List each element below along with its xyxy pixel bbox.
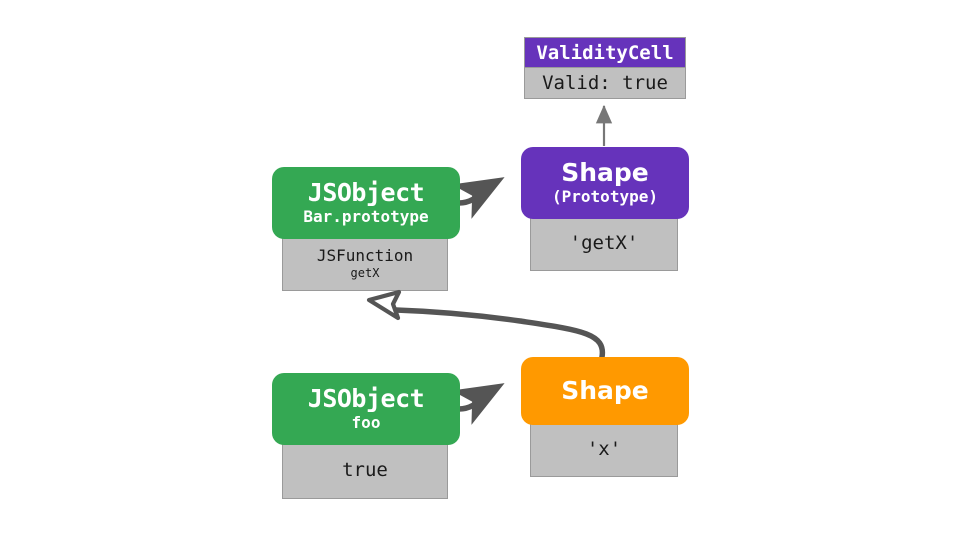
shape-prototype-subtitle: (Prototype) (552, 189, 658, 206)
validity-cell-body: Valid: true (525, 68, 685, 98)
jsobject-bar-prototype-subtitle: Bar.prototype (303, 209, 428, 226)
edge-bar-prototype-to-shape-prototype (459, 182, 496, 203)
shape-foo-head: Shape (521, 357, 689, 425)
shape-foo-body: 'x' (530, 421, 678, 477)
jsobject-bar-prototype-body-line2: getX (351, 266, 380, 280)
edge-shape-foo-to-jsfunction-prototype-link (369, 292, 602, 357)
jsobject-bar-prototype-title: JSObject (308, 180, 424, 206)
jsobject-bar-prototype-body-line1: JSFunction (317, 246, 413, 265)
jsobject-bar-prototype-head: JSObject Bar.prototype (272, 167, 460, 239)
diagram-canvas: ValidityCell Valid: true 'getX' Shape (P… (0, 0, 960, 540)
edge-layer (0, 0, 960, 540)
shape-foo-title: Shape (561, 378, 649, 404)
validity-cell-body-label: Valid: true (542, 72, 668, 94)
validity-cell-header: ValidityCell (525, 38, 685, 68)
jsobject-foo-subtitle: foo (352, 415, 381, 432)
edge-foo-to-shape-foo (459, 388, 496, 409)
shape-prototype-title: Shape (561, 160, 649, 186)
shape-prototype-head: Shape (Prototype) (521, 147, 689, 219)
jsobject-foo-title: JSObject (308, 386, 424, 412)
node-validity-cell[interactable]: ValidityCell Valid: true (524, 37, 686, 99)
jsobject-foo-body: true (282, 441, 448, 499)
jsobject-foo-head: JSObject foo (272, 373, 460, 445)
jsobject-bar-prototype-body: JSFunction getX (282, 235, 448, 291)
jsobject-foo-body-line1: true (342, 459, 388, 481)
shape-prototype-body-label: 'getX' (570, 232, 639, 254)
validity-cell-header-label: ValidityCell (536, 42, 673, 64)
shape-foo-body-label: 'x' (587, 438, 621, 460)
shape-prototype-body: 'getX' (530, 215, 678, 271)
